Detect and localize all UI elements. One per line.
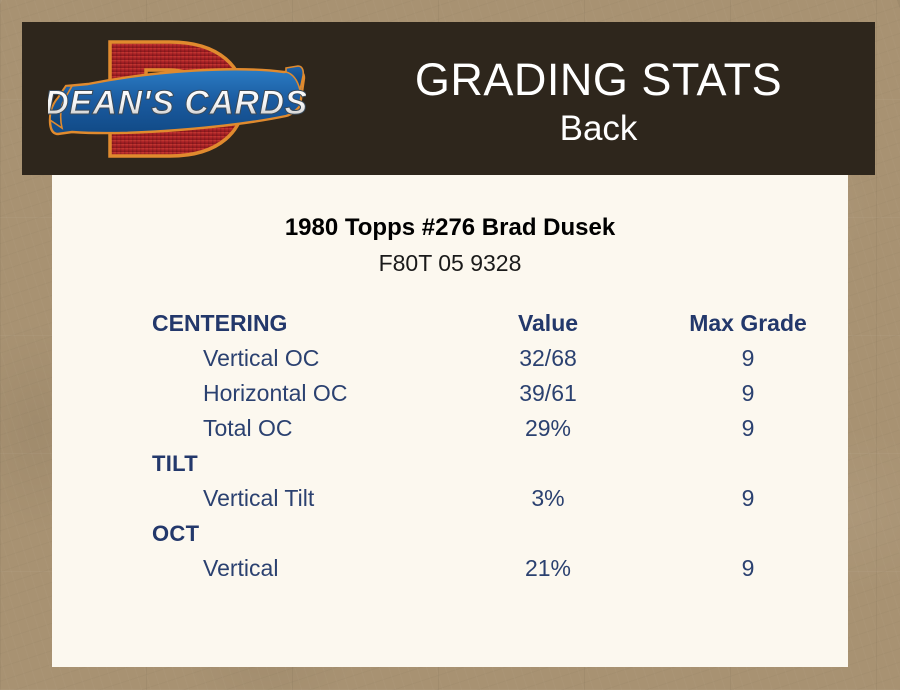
column-header-max-grade: Max Grade: [648, 305, 848, 341]
header-title-group: GRADING STATS Back: [322, 22, 875, 175]
stat-label: Vertical OC: [52, 341, 448, 376]
stat-value: 3%: [448, 481, 648, 516]
header-band: DEAN'S CARDS GRADING STATS Back: [22, 22, 875, 175]
column-header-category: CENTERING: [52, 305, 448, 341]
stat-max-grade: 9: [648, 411, 848, 446]
content-panel: 1980 Topps #276 Brad Dusek F80T 05 9328 …: [52, 175, 848, 667]
table-body: Vertical OC32/689Horizontal OC39/619Tota…: [52, 341, 848, 586]
stat-label: Vertical: [52, 551, 448, 586]
stat-label: Total OC: [52, 411, 448, 446]
stat-max-grade: 9: [648, 551, 848, 586]
stat-label: Vertical Tilt: [52, 481, 448, 516]
page-title: GRADING STATS: [415, 54, 782, 106]
section-label: TILT: [52, 446, 848, 481]
table-row: Vertical OC32/689: [52, 341, 848, 376]
stat-value: 21%: [448, 551, 648, 586]
card-title: 1980 Topps #276 Brad Dusek: [52, 213, 848, 243]
table-row: Horizontal OC39/619: [52, 376, 848, 411]
stat-label: Horizontal OC: [52, 376, 448, 411]
stat-value: 39/61: [448, 376, 648, 411]
section-header-row: OCT: [52, 516, 848, 551]
logo-banner: DEAN'S CARDS: [48, 66, 306, 134]
stat-value: 32/68: [448, 341, 648, 376]
card-serial-number: F80T 05 9328: [52, 248, 848, 278]
table-row: Vertical21%9: [52, 551, 848, 586]
logo-banner-text: DEAN'S CARDS: [48, 84, 306, 122]
grading-stats-table: CENTERING Value Max Grade Vertical OC32/…: [52, 305, 848, 586]
table-row: Vertical Tilt3%9: [52, 481, 848, 516]
table-row: Total OC29%9: [52, 411, 848, 446]
stat-max-grade: 9: [648, 376, 848, 411]
stat-max-grade: 9: [648, 341, 848, 376]
deans-cards-logo[interactable]: DEAN'S CARDS: [48, 28, 306, 170]
page-subtitle: Back: [560, 108, 638, 150]
section-header-row: TILT: [52, 446, 848, 481]
stat-max-grade: 9: [648, 481, 848, 516]
section-label: OCT: [52, 516, 848, 551]
table-header-row: CENTERING Value Max Grade: [52, 305, 848, 341]
stat-value: 29%: [448, 411, 648, 446]
column-header-value: Value: [448, 305, 648, 341]
